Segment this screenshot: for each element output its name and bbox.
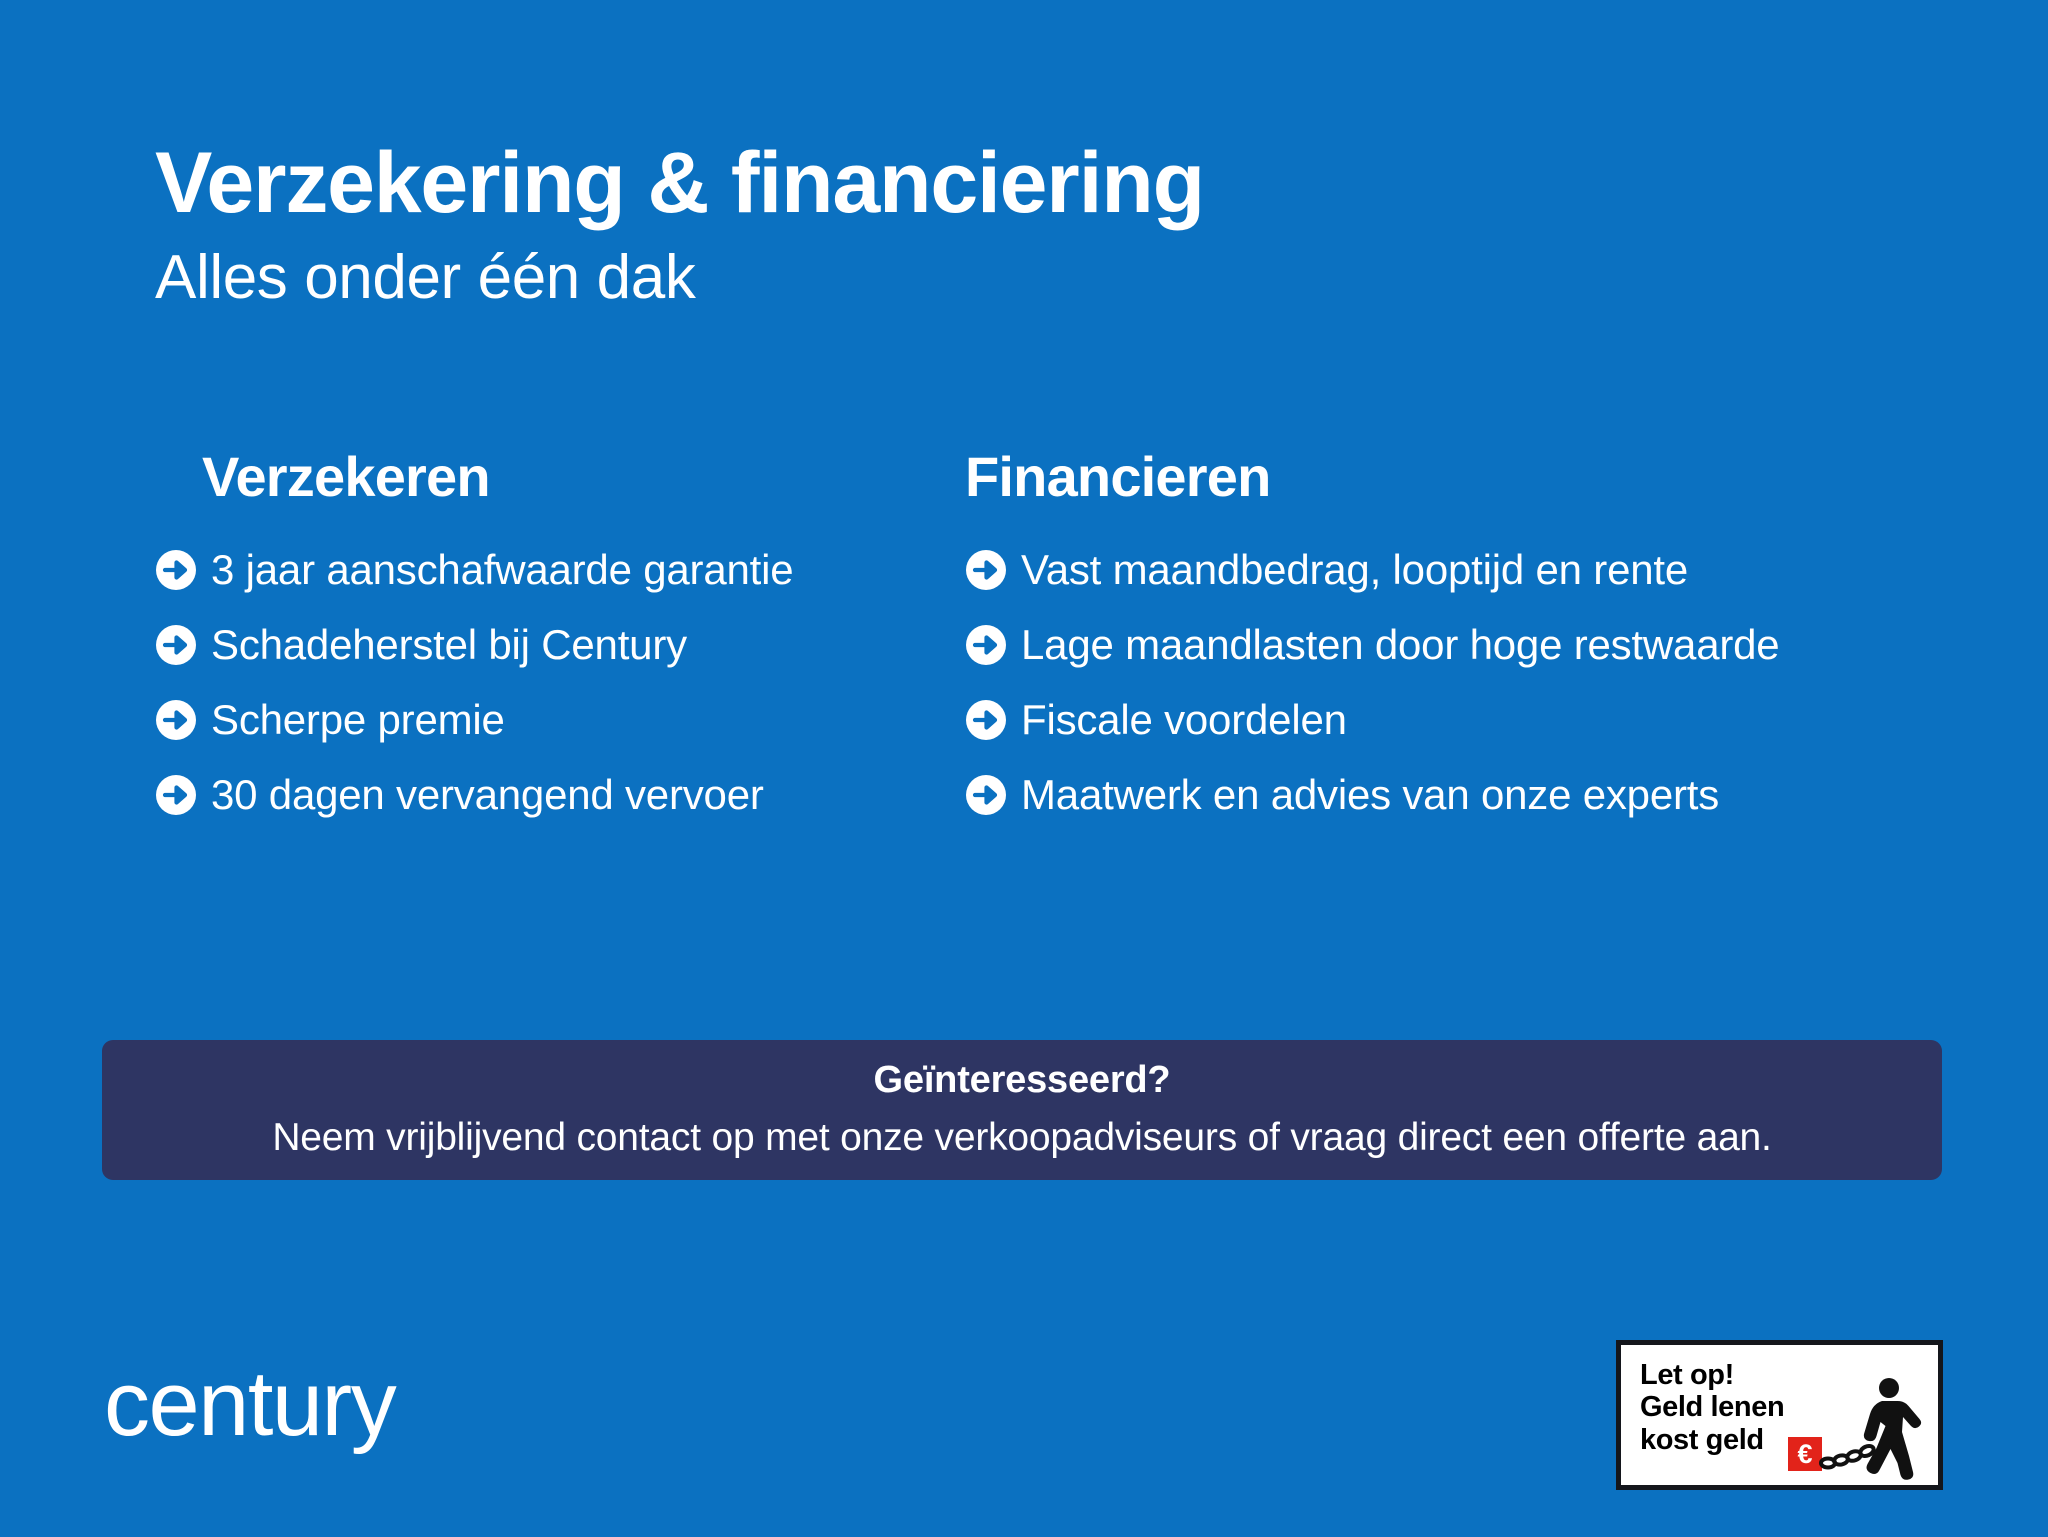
column-title-financieren: Financieren xyxy=(965,448,2048,507)
bullet-label: Maatwerk en advies van onze experts xyxy=(1021,774,1719,816)
arrow-circle-right-icon xyxy=(965,549,1007,591)
arrow-circle-right-icon xyxy=(155,549,197,591)
arrow-circle-right-icon xyxy=(965,624,1007,666)
bullet-label: Vast maandbedrag, looptijd en rente xyxy=(1021,549,1688,591)
credit-warning-text: Let op! Geld lenen kost geld xyxy=(1640,1359,1784,1456)
credit-warning-label: Let op! Geld lenen kost geld € xyxy=(1616,1340,1943,1490)
arrow-circle-right-icon xyxy=(965,774,1007,816)
list-item: Lage maandlasten door hoge restwaarde xyxy=(965,608,2048,683)
page-title: Verzekering & financiering xyxy=(155,140,1855,228)
svg-text:€: € xyxy=(1797,1439,1812,1469)
century-logo: century xyxy=(104,1358,395,1450)
credit-warning-inner: Let op! Geld lenen kost geld € xyxy=(1621,1345,1938,1485)
list-item: 30 dagen vervangend vervoer xyxy=(155,758,900,833)
slide-root: Verzekering & financiering Alles onder é… xyxy=(0,0,2048,1537)
header: Verzekering & financiering Alles onder é… xyxy=(155,140,1855,313)
cta-text: Neem vrijblijvend contact op met onze ve… xyxy=(272,1115,1771,1162)
list-item: Maatwerk en advies van onze experts xyxy=(965,758,2048,833)
list-item: Scherpe premie xyxy=(155,683,900,758)
column-title-verzekeren: Verzekeren xyxy=(202,448,900,507)
bullet-list-verzekeren: 3 jaar aanschafwaarde garantie Schadeher… xyxy=(155,533,900,833)
arrow-circle-right-icon xyxy=(155,624,197,666)
bullet-label: 3 jaar aanschafwaarde garantie xyxy=(211,549,793,591)
column-financieren: Financieren Vast maandbedrag, looptijd e… xyxy=(900,448,2048,833)
feature-columns: Verzekeren 3 jaar aanschafwaarde garanti… xyxy=(0,448,2048,833)
bullet-label: Scherpe premie xyxy=(211,699,505,741)
cta-banner: Geïnteresseerd? Neem vrijblijvend contac… xyxy=(102,1040,1942,1180)
list-item: Fiscale voordelen xyxy=(965,683,2048,758)
bullet-label: Schadeherstel bij Century xyxy=(211,624,687,666)
cta-title: Geïnteresseerd? xyxy=(874,1058,1171,1104)
arrow-circle-right-icon xyxy=(965,699,1007,741)
list-item: Vast maandbedrag, looptijd en rente xyxy=(965,533,2048,608)
arrow-circle-right-icon xyxy=(155,699,197,741)
column-verzekeren: Verzekeren 3 jaar aanschafwaarde garanti… xyxy=(0,448,900,833)
bullet-label: Lage maandlasten door hoge restwaarde xyxy=(1021,624,1779,666)
list-item: Schadeherstel bij Century xyxy=(155,608,900,683)
list-item: 3 jaar aanschafwaarde garantie xyxy=(155,533,900,608)
walking-person-ball-and-chain-euro-icon: € xyxy=(1786,1375,1934,1481)
bullet-list-financieren: Vast maandbedrag, looptijd en rente Lage… xyxy=(965,533,2048,833)
bullet-label: 30 dagen vervangend vervoer xyxy=(211,774,764,816)
arrow-circle-right-icon xyxy=(155,774,197,816)
bullet-label: Fiscale voordelen xyxy=(1021,699,1347,741)
page-subtitle: Alles onder één dak xyxy=(155,242,1855,313)
